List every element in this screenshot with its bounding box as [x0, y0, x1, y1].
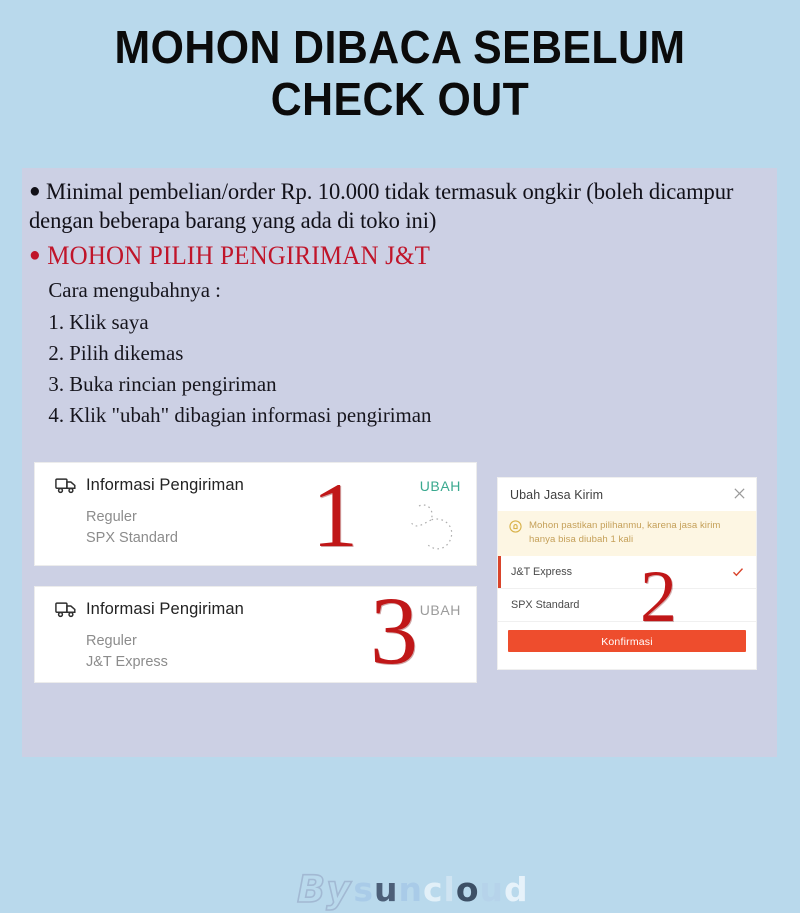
steps-list: Cara mengubahnya : 1. Klik saya 2. Pilih… — [29, 275, 747, 431]
card1-ubah-button[interactable]: UBAH — [420, 478, 461, 494]
bullet-dot-icon: ● — [29, 180, 41, 202]
change-courier-dialog: Ubah Jasa Kirim Mohon pastikan pilihanmu… — [497, 477, 757, 670]
card2-courier: J&T Express — [86, 652, 168, 673]
truck-icon — [55, 477, 77, 494]
dialog-warning-text: Mohon pastikan pilihanmu, karena jasa ki… — [529, 519, 744, 547]
watermark-prefix: By — [297, 868, 351, 911]
watermark-letter-u2: u — [480, 870, 505, 909]
courier-option-jnt-label: J&T Express — [511, 566, 572, 578]
dialog-footer: Konfirmasi — [498, 622, 756, 661]
step-item-4: 4. Klik "ubah" dibagian informasi pengir… — [48, 400, 746, 431]
cursor-arrow-icon — [405, 500, 467, 556]
watermark-letter-s: s — [353, 870, 374, 909]
truck-icon — [55, 601, 77, 618]
watermark-letter-d: d — [504, 870, 529, 909]
courier-option-jnt[interactable]: J&T Express — [498, 556, 756, 589]
card2-ubah-button[interactable]: UBAH — [420, 602, 461, 618]
note-bullet-1-text: Minimal pembelian/order Rp. 10.000 tidak… — [29, 179, 733, 234]
card1-subtitle: Reguler SPX Standard — [86, 507, 178, 548]
note-bullet-1: ● Minimal pembelian/order Rp. 10.000 tid… — [29, 178, 739, 236]
bell-icon — [509, 520, 522, 533]
steps-intro: Cara mengubahnya : — [48, 275, 746, 306]
page-title: MOHON DIBACA SEBELUM CHECK OUT — [28, 22, 772, 125]
bullet-dot-red-icon: ● — [29, 244, 41, 266]
card1-title: Informasi Pengiriman — [86, 476, 244, 495]
step-number-1: 1 — [312, 469, 358, 561]
dialog-warning-banner: Mohon pastikan pilihanmu, karena jasa ki… — [498, 511, 756, 556]
card2-subtitle: Reguler J&T Express — [86, 631, 168, 672]
watermark-letter-c: c — [423, 870, 444, 909]
note-bullet-2: ● MOHON PILIH PENGIRIMAN J&T — [29, 240, 739, 271]
step-item-3: 3. Buka rincian pengiriman — [48, 369, 746, 400]
close-icon[interactable] — [733, 487, 746, 500]
watermark-letter-n: n — [398, 870, 423, 909]
card1-service-type: Reguler — [86, 507, 178, 528]
notes-block: ● Minimal pembelian/order Rp. 10.000 tid… — [29, 178, 769, 431]
step-item-2: 2. Pilih dikemas — [48, 338, 746, 369]
step-number-2: 2 — [640, 560, 677, 634]
watermark-letter-u: u — [374, 870, 399, 909]
card1-header-row: Informasi Pengiriman — [55, 476, 462, 495]
step-item-1: 1. Klik saya — [48, 307, 746, 338]
confirm-button[interactable]: Konfirmasi — [508, 630, 746, 652]
dialog-header: Ubah Jasa Kirim — [498, 478, 756, 511]
title-line-2: CHECK OUT — [28, 74, 772, 126]
card1-courier: SPX Standard — [86, 528, 178, 549]
watermark-letter-l: l — [444, 870, 456, 909]
note-bullet-2-text: MOHON PILIH PENGIRIMAN J&T — [47, 241, 430, 270]
card2-title: Informasi Pengiriman — [86, 600, 244, 619]
check-icon — [732, 566, 744, 578]
poster-canvas: MOHON DIBACA SEBELUM CHECK OUT ● Minimal… — [0, 0, 800, 800]
card2-service-type: Reguler — [86, 631, 168, 652]
title-line-1: MOHON DIBACA SEBELUM — [28, 22, 772, 74]
watermark-letter-o: o — [456, 870, 480, 909]
dialog-title: Ubah Jasa Kirim — [510, 488, 603, 502]
courier-option-spx[interactable]: SPX Standard — [498, 589, 756, 622]
watermark: By s u n c l o u d — [297, 865, 557, 913]
courier-option-spx-label: SPX Standard — [511, 599, 579, 611]
step-number-3: 3 — [370, 583, 418, 679]
